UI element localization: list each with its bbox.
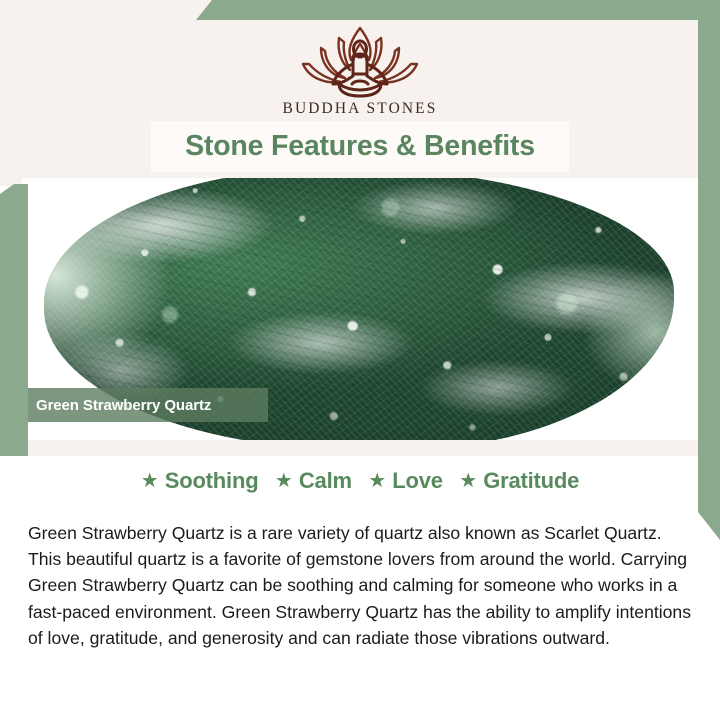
stone-caption-label: Green Strawberry Quartz [22,397,211,414]
brand-logo: BUDDHA STONES [0,22,720,118]
benefits-row: ★ Soothing ★ Calm ★ Love ★ Gratitude [0,468,720,494]
benefit-label: Love [392,468,443,494]
star-icon: ★ [459,471,477,491]
star-icon: ★ [275,471,293,491]
frame-accent-left [0,184,28,456]
stone-photo: Green Strawberry Quartz [22,178,698,440]
stone-caption-bar: Green Strawberry Quartz [22,388,268,422]
benefit-item-love: ★ Love [368,468,443,494]
photo-under-divider [22,440,698,456]
stone-info-card: BUDDHA STONES Stone Features & Benefits … [0,0,720,720]
benefit-label: Calm [299,468,352,494]
benefit-label: Soothing [165,468,259,494]
stone-description: Green Strawberry Quartz is a rare variet… [28,520,696,652]
star-icon: ★ [368,471,386,491]
benefit-item-gratitude: ★ Gratitude [459,468,579,494]
star-icon: ★ [141,471,159,491]
benefit-item-calm: ★ Calm [275,468,352,494]
page-title-plaque: Stone Features & Benefits [151,121,569,172]
benefit-label: Gratitude [483,468,579,494]
brand-wordmark: BUDDHA STONES [0,100,720,118]
page-title: Stone Features & Benefits [185,130,535,163]
frame-accent-top-right [196,0,720,20]
benefit-item-soothing: ★ Soothing [141,468,259,494]
lotus-meditation-icon [287,22,433,98]
